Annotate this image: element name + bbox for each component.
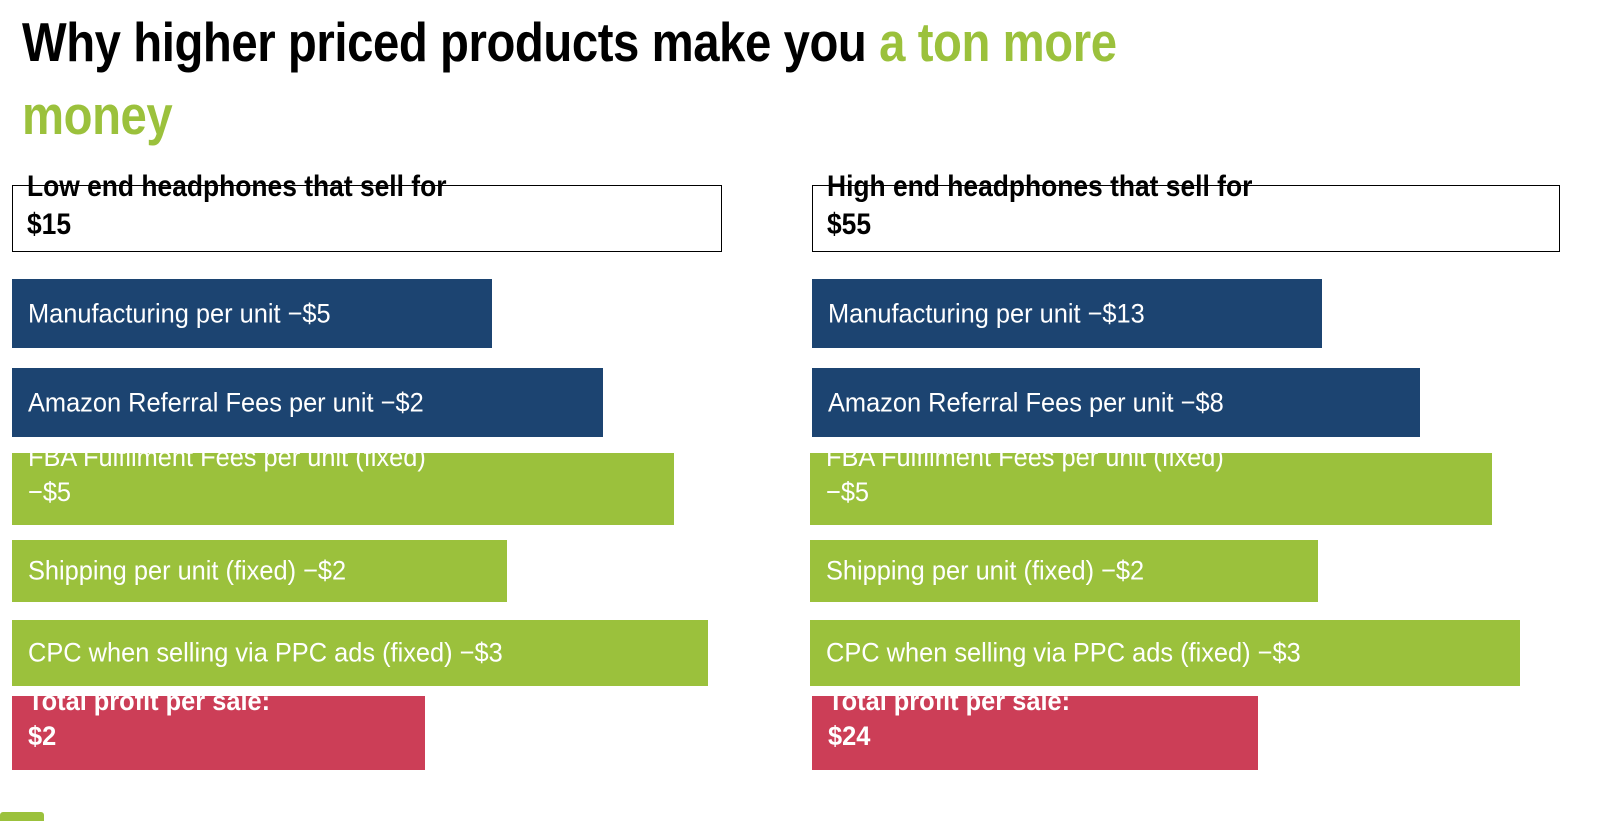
cost-bar-shipping-low: Shipping per unit (fixed) −$2 bbox=[12, 540, 507, 602]
cost-bar-referral-fees-low: Amazon Referral Fees per unit −$2 bbox=[12, 368, 603, 437]
cost-bar-label: CPC when selling via PPC ads (fixed) −$3 bbox=[28, 636, 708, 671]
page-title: Why higher priced products make you a to… bbox=[22, 6, 1226, 152]
cost-bar-label: CPC when selling via PPC ads (fixed) −$3 bbox=[826, 636, 1520, 671]
cost-bar-label: Amazon Referral Fees per unit −$2 bbox=[28, 385, 603, 420]
cost-bar-shipping-high: Shipping per unit (fixed) −$2 bbox=[810, 540, 1318, 602]
cost-bar-manufacturing-high: Manufacturing per unit −$13 bbox=[812, 279, 1322, 348]
cost-bar-label: FBA Fulfilment Fees per unit (fixed) −$5 bbox=[28, 453, 674, 509]
cost-bar-manufacturing-low: Manufacturing per unit −$5 bbox=[12, 279, 492, 348]
cost-bar-label: Manufacturing per unit −$5 bbox=[28, 296, 492, 331]
cost-bar-fba-fulfilment-low: FBA Fulfilment Fees per unit (fixed) −$5 bbox=[12, 453, 674, 525]
column-header-label-high-end: High end headphones that sell for $55 bbox=[827, 168, 1496, 244]
cost-bar-cpc-ppc-low: CPC when selling via PPC ads (fixed) −$3 bbox=[12, 620, 708, 686]
column-header-box-low-end: Low end headphones that sell for $15 bbox=[12, 185, 722, 252]
column-header-label-low-end: Low end headphones that sell for $15 bbox=[27, 168, 696, 244]
total-profit-label: Total profit per sale: $24 bbox=[828, 696, 1258, 753]
cost-bar-label: Shipping per unit (fixed) −$2 bbox=[826, 554, 1318, 589]
cost-bar-label: Shipping per unit (fixed) −$2 bbox=[28, 554, 507, 589]
page-title-main: Why higher priced products make you bbox=[22, 11, 879, 73]
column-header-box-high-end: High end headphones that sell for $55 bbox=[812, 185, 1560, 252]
total-profit-bar-high: Total profit per sale: $24 bbox=[812, 696, 1258, 770]
cost-bar-label: Manufacturing per unit −$13 bbox=[828, 296, 1322, 331]
cost-bar-cpc-ppc-high: CPC when selling via PPC ads (fixed) −$3 bbox=[810, 620, 1520, 686]
total-profit-label: Total profit per sale: $2 bbox=[28, 696, 425, 753]
cost-bar-label: Amazon Referral Fees per unit −$8 bbox=[828, 385, 1420, 420]
cost-bar-fba-fulfilment-high: FBA Fulfilment Fees per unit (fixed) −$5 bbox=[810, 453, 1492, 525]
cost-bar-referral-fees-high: Amazon Referral Fees per unit −$8 bbox=[812, 368, 1420, 437]
total-profit-bar-low: Total profit per sale: $2 bbox=[12, 696, 425, 770]
bottom-left-accent-shape bbox=[0, 812, 44, 821]
cost-bar-label: FBA Fulfilment Fees per unit (fixed) −$5 bbox=[826, 453, 1492, 509]
